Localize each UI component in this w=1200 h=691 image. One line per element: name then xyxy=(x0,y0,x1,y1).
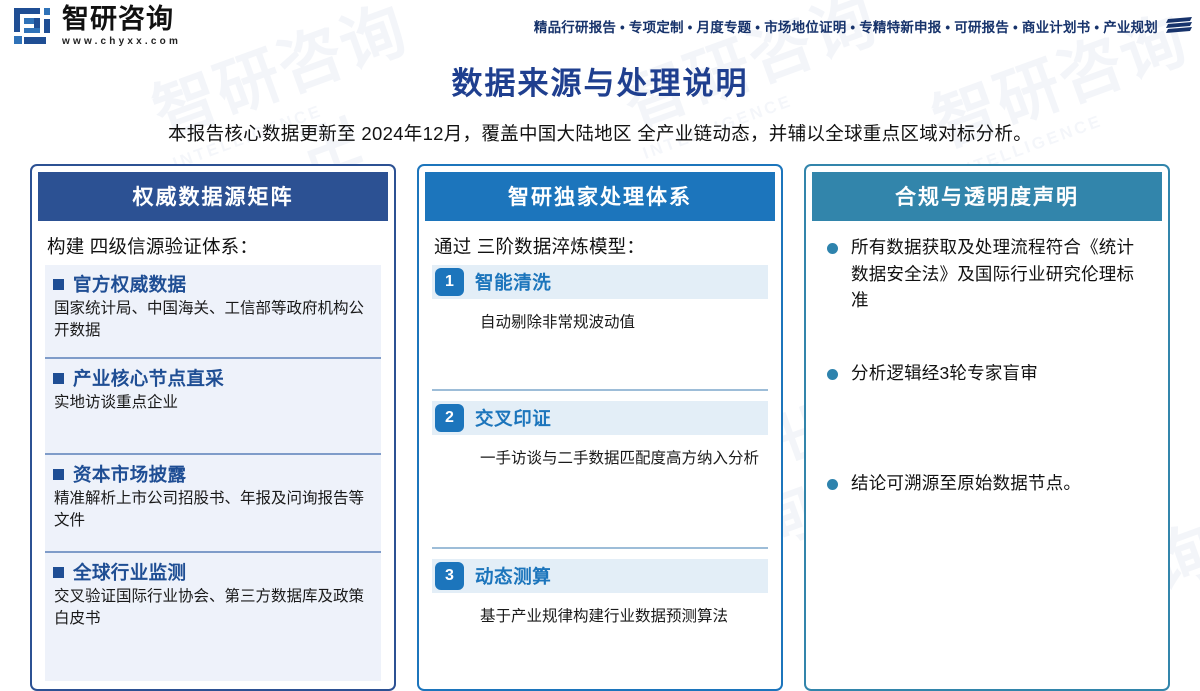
page-title: 数据来源与处理说明 xyxy=(0,58,1200,103)
card-data-sources: 权威数据源矩阵 构建 四级信源验证体系： 官方权威数据 国家统计局、中国海关、工… xyxy=(30,164,396,691)
step-title: 交叉印证 xyxy=(475,405,551,431)
cards-row: 权威数据源矩阵 构建 四级信源验证体系： 官方权威数据 国家统计局、中国海关、工… xyxy=(0,164,1200,691)
item-title-row: 全球行业监测 xyxy=(53,559,373,585)
list-item[interactable]: 所有数据获取及处理流程符合《统计数据安全法》及国际行业研究伦理标准 xyxy=(819,234,1155,360)
card-title: 智研独家处理体系 xyxy=(425,172,775,221)
brand-logo[interactable]: 智研咨询 www.chyxx.com xyxy=(14,6,181,47)
step-description: 一手访谈与二手数据匹配度高方纳入分析 xyxy=(480,448,768,470)
tagline-text: 精品行研报告 • 专项定制 • 月度专题 • 市场地位证明 • 专精特新申报 •… xyxy=(534,16,1158,36)
item-title: 官方权威数据 xyxy=(73,271,186,297)
list-item[interactable]: 全球行业监测 交叉验证国际行业协会、第三方数据库及政策白皮书 xyxy=(45,551,381,681)
item-title-row: 产业核心节点直采 xyxy=(53,365,373,391)
square-bullet-icon xyxy=(53,373,64,384)
list-item[interactable]: 3 动态测算 基于产业规律构建行业数据预测算法 xyxy=(432,547,768,681)
list-item[interactable]: 2 交叉印证 一手访谈与二手数据匹配度高方纳入分析 xyxy=(432,389,768,547)
list-item[interactable]: 资本市场披露 精准解析上市公司招股书、年报及问询报告等文件 xyxy=(45,453,381,551)
item-title-row: 资本市场披露 xyxy=(53,461,373,487)
zhiyan-maze-logo-icon xyxy=(14,8,54,44)
hamburger-slanted-icon[interactable] xyxy=(1166,17,1192,35)
list-item[interactable]: 结论可溯源至原始数据节点。 xyxy=(819,470,1155,497)
card-lead: 构建 四级信源验证体系： xyxy=(47,233,381,259)
square-bullet-icon xyxy=(53,469,64,480)
page-subtitle: 本报告核心数据更新至 2024年12月，覆盖中国大陆地区 全产业链动态，并辅以全… xyxy=(0,120,1200,146)
card-title: 权威数据源矩阵 xyxy=(38,172,388,221)
step-number-badge: 2 xyxy=(435,404,464,432)
step-title: 动态测算 xyxy=(475,563,551,589)
item-title: 全球行业监测 xyxy=(73,559,186,585)
step-header: 1 智能清洗 xyxy=(432,265,768,299)
card-compliance-statement: 合规与透明度声明 所有数据获取及处理流程符合《统计数据安全法》及国际行业研究伦理… xyxy=(804,164,1170,691)
card-body: 构建 四级信源验证体系： 官方权威数据 国家统计局、中国海关、工信部等政府机构公… xyxy=(32,221,394,689)
list-item[interactable]: 1 智能清洗 自动剔除非常规波动值 xyxy=(432,265,768,389)
step-header: 2 交叉印证 xyxy=(432,401,768,435)
step-title: 智能清洗 xyxy=(475,269,551,295)
dot-bullet-icon xyxy=(827,243,838,254)
brand-url: www.chyxx.com xyxy=(62,36,181,47)
bullet-text: 所有数据获取及处理流程符合《统计数据安全法》及国际行业研究伦理标准 xyxy=(851,234,1151,314)
bullet-list: 所有数据获取及处理流程符合《统计数据安全法》及国际行业研究伦理标准 分析逻辑经3… xyxy=(819,230,1155,497)
square-bullet-icon xyxy=(53,567,64,578)
item-title: 资本市场披露 xyxy=(73,461,186,487)
card-lead: 通过 三阶数据淬炼模型： xyxy=(434,233,768,259)
card-processing-system: 智研独家处理体系 通过 三阶数据淬炼模型： 1 智能清洗 自动剔除非常规波动值 … xyxy=(417,164,783,691)
brand-name: 智研咨询 xyxy=(62,6,181,33)
card-title: 合规与透明度声明 xyxy=(812,172,1162,221)
bullet-text: 结论可溯源至原始数据节点。 xyxy=(851,470,1081,497)
list-item[interactable]: 分析逻辑经3轮专家盲审 xyxy=(819,360,1155,470)
step-number-badge: 3 xyxy=(435,562,464,590)
item-description: 实地访谈重点企业 xyxy=(54,392,373,414)
header-tagline: 精品行研报告 • 专项定制 • 月度专题 • 市场地位证明 • 专精特新申报 •… xyxy=(534,16,1192,36)
bullet-text: 分析逻辑经3轮专家盲审 xyxy=(851,360,1038,387)
step-number-badge: 1 xyxy=(435,268,464,296)
list-item[interactable]: 官方权威数据 国家统计局、中国海关、工信部等政府机构公开数据 xyxy=(45,265,381,357)
square-bullet-icon xyxy=(53,279,64,290)
item-title: 产业核心节点直采 xyxy=(73,365,224,391)
step-description: 自动剔除非常规波动值 xyxy=(480,312,768,334)
list-item[interactable]: 产业核心节点直采 实地访谈重点企业 xyxy=(45,357,381,453)
step-description: 基于产业规律构建行业数据预测算法 xyxy=(480,606,768,628)
card-body: 所有数据获取及处理流程符合《统计数据安全法》及国际行业研究伦理标准 分析逻辑经3… xyxy=(806,221,1168,689)
header-bar: 智研咨询 www.chyxx.com 精品行研报告 • 专项定制 • 月度专题 … xyxy=(0,0,1200,52)
item-title-row: 官方权威数据 xyxy=(53,271,373,297)
item-description: 精准解析上市公司招股书、年报及问询报告等文件 xyxy=(54,488,373,532)
dot-bullet-icon xyxy=(827,479,838,490)
item-description: 交叉验证国际行业协会、第三方数据库及政策白皮书 xyxy=(54,586,373,630)
item-description: 国家统计局、中国海关、工信部等政府机构公开数据 xyxy=(54,298,373,342)
step-header: 3 动态测算 xyxy=(432,559,768,593)
card-body: 通过 三阶数据淬炼模型： 1 智能清洗 自动剔除非常规波动值 2 交叉印证 一手… xyxy=(419,221,781,689)
dot-bullet-icon xyxy=(827,369,838,380)
